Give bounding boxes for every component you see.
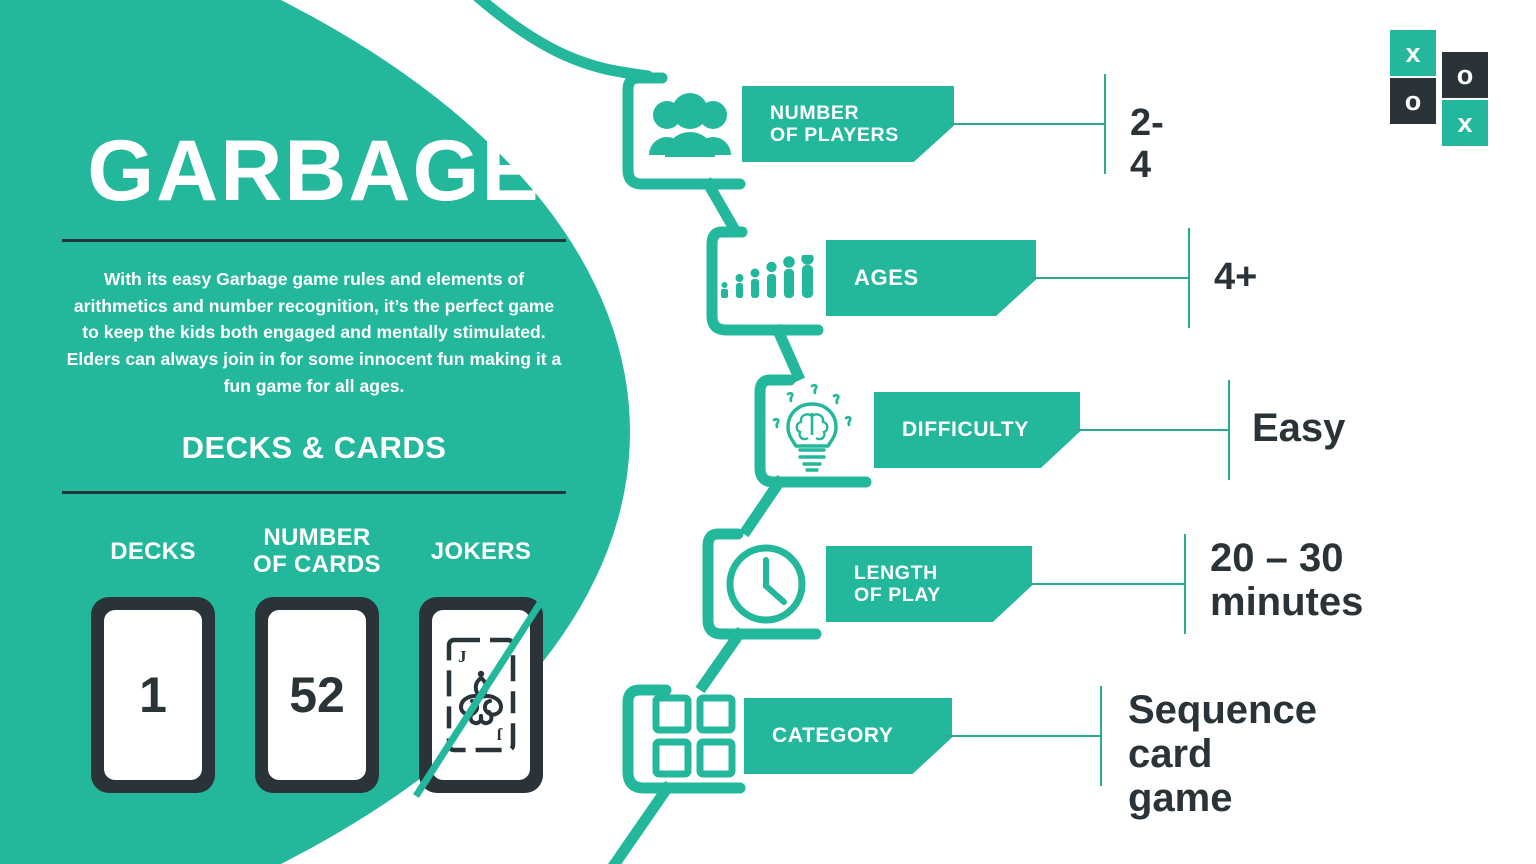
lead-line xyxy=(1076,429,1230,431)
card-tile-number-of-cards: 52 xyxy=(255,597,379,793)
value-category: Sequence card game xyxy=(1128,688,1317,820)
svg-text:J: J xyxy=(458,647,467,666)
lead-line xyxy=(946,735,1102,737)
divider-bottom xyxy=(62,491,566,494)
brain-lightbulb-icon xyxy=(760,378,864,482)
divider-top xyxy=(62,239,566,242)
lead-line xyxy=(1028,583,1186,585)
label-ages: AGES xyxy=(826,240,1036,316)
joker-card-icon: J ſ xyxy=(432,610,530,780)
card-tile-decks: 1 xyxy=(91,597,215,793)
deck-column-header: DECKS xyxy=(78,524,228,580)
value-length-of-play: 20 – 30 minutes xyxy=(1210,536,1363,624)
grid-squares-icon xyxy=(644,686,744,786)
label-difficulty: DIFFICULTY xyxy=(874,392,1080,468)
label-length-of-play: LENGTH OF PLAY xyxy=(826,546,1032,622)
card-value-number-of-cards: 52 xyxy=(268,610,366,780)
group-of-people-icon xyxy=(644,86,736,166)
people-growth-stages-icon xyxy=(716,252,820,308)
page-title: GARBAGE xyxy=(60,128,568,214)
svg-text:ſ: ſ xyxy=(497,725,503,744)
logo-tile-o-top-right: o xyxy=(1442,52,1488,98)
deck-column-decks: DECKS 1 xyxy=(78,524,228,793)
game-description: With its easy Garbage game rules and ele… xyxy=(66,266,562,400)
value-difficulty: Easy xyxy=(1252,406,1345,450)
label-number-of-players: NUMBER OF PLAYERS xyxy=(742,86,954,162)
left-content: GARBAGE With its easy Garbage game rules… xyxy=(60,0,568,864)
logo-tile-o-bottom-left: o xyxy=(1390,78,1436,124)
logo-tile-x-bottom-right: x xyxy=(1442,100,1488,146)
card-value-decks: 1 xyxy=(104,610,202,780)
deck-column-header: JOKERS xyxy=(406,524,556,580)
lead-line xyxy=(1032,277,1190,279)
infographic-canvas: GARBAGE With its easy Garbage game rules… xyxy=(0,0,1536,864)
tick-mark xyxy=(1100,686,1102,786)
logo-tile-x-top-left: x xyxy=(1390,30,1436,76)
section-title-decks-cards: DECKS & CARDS xyxy=(60,430,568,466)
value-number-of-players: 2-4 xyxy=(1130,103,1164,187)
tick-mark xyxy=(1228,380,1230,480)
deck-column-number-of-cards: NUMBER OF CARDS 52 xyxy=(242,524,392,793)
card-tile-jokers: J ſ xyxy=(419,597,543,793)
value-ages: 4+ xyxy=(1214,257,1257,299)
tick-mark xyxy=(1184,534,1186,634)
decks-and-cards-group: DECKS 1 NUMBER OF CARDS 52 JOKERS J xyxy=(78,524,556,793)
joker-card-glyph: J ſ xyxy=(443,632,519,758)
label-category: CATEGORY xyxy=(744,698,952,774)
lead-line xyxy=(950,123,1106,125)
deck-column-header: NUMBER OF CARDS xyxy=(242,524,392,580)
tick-mark xyxy=(1188,228,1190,328)
clock-icon xyxy=(714,534,818,634)
tick-mark xyxy=(1104,74,1106,174)
deck-column-jokers: JOKERS J ſ xyxy=(406,524,556,793)
tic-tac-toe-logo: x o o x xyxy=(1390,30,1494,134)
